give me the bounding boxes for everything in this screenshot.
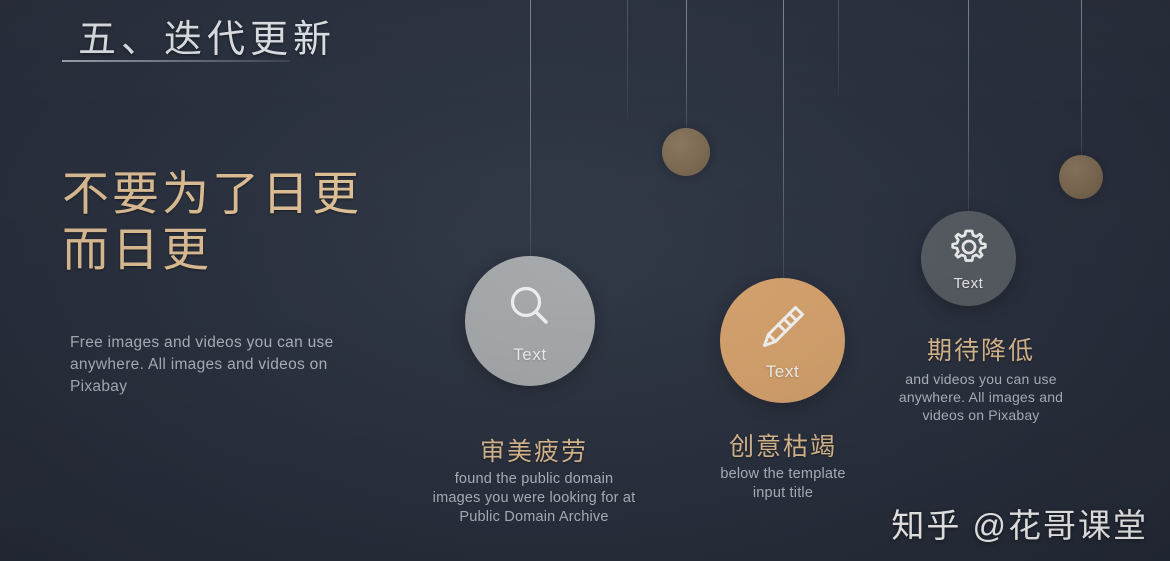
gear-icon <box>947 225 991 274</box>
hanging-string-4 <box>783 0 784 280</box>
caption-gear: 期待降低 and videos you can use anywhere. Al… <box>886 336 1076 424</box>
hanging-string-7 <box>1081 0 1082 158</box>
bubble-search[interactable]: Text <box>465 256 595 386</box>
caption-body-gear-line3: videos on Pixabay <box>886 406 1076 424</box>
page-title: 五、迭代更新 <box>78 8 336 63</box>
slide-canvas: 五、迭代更新 不要为了日更 而日更 Free images and videos… <box>0 0 1170 561</box>
bead-right <box>1059 155 1103 199</box>
caption-body-search-line2: images you were looking for at <box>410 489 658 508</box>
hanging-string-5 <box>838 0 839 96</box>
title-underline <box>62 60 290 62</box>
caption-search: 审美疲劳 found the public domain images you … <box>410 437 658 527</box>
caption-body-gear-line2: anywhere. All images and <box>886 388 1076 406</box>
caption-body-search-line3: Public Domain Archive <box>410 508 658 527</box>
hanging-string-2 <box>627 0 628 120</box>
caption-title-search: 审美疲劳 <box>410 437 658 467</box>
bubble-pencil[interactable]: Text <box>720 278 845 403</box>
bubble-label-search: Text <box>513 345 547 365</box>
hanging-string-6 <box>968 0 969 212</box>
bead-left <box>662 128 710 176</box>
lede-line-2: 而日更 <box>62 222 492 278</box>
caption-title-gear: 期待降低 <box>886 336 1076 366</box>
bubble-label-gear: Text <box>954 275 984 292</box>
caption-pencil: 创意枯竭 below the template input title <box>678 432 888 503</box>
pencil-icon <box>755 299 811 360</box>
caption-body-gear-line1: and videos you can use <box>886 370 1076 388</box>
lede-line-1: 不要为了日更 <box>62 166 492 222</box>
bubble-gear[interactable]: Text <box>921 211 1016 306</box>
lede-body-text: Free images and videos you can use anywh… <box>70 332 370 398</box>
search-icon <box>501 278 559 341</box>
caption-body-search-line1: found the public domain <box>410 470 658 489</box>
bubble-label-pencil: Text <box>766 362 800 382</box>
hanging-string-3 <box>686 0 687 134</box>
caption-body-pencil-line2: input title <box>678 484 888 503</box>
hanging-string-1 <box>530 0 531 256</box>
caption-body-pencil-line1: below the template <box>678 465 888 484</box>
lede-heading: 不要为了日更 而日更 <box>62 166 492 278</box>
caption-title-pencil: 创意枯竭 <box>678 432 888 462</box>
watermark: 知乎 @花哥课堂 <box>891 499 1148 547</box>
